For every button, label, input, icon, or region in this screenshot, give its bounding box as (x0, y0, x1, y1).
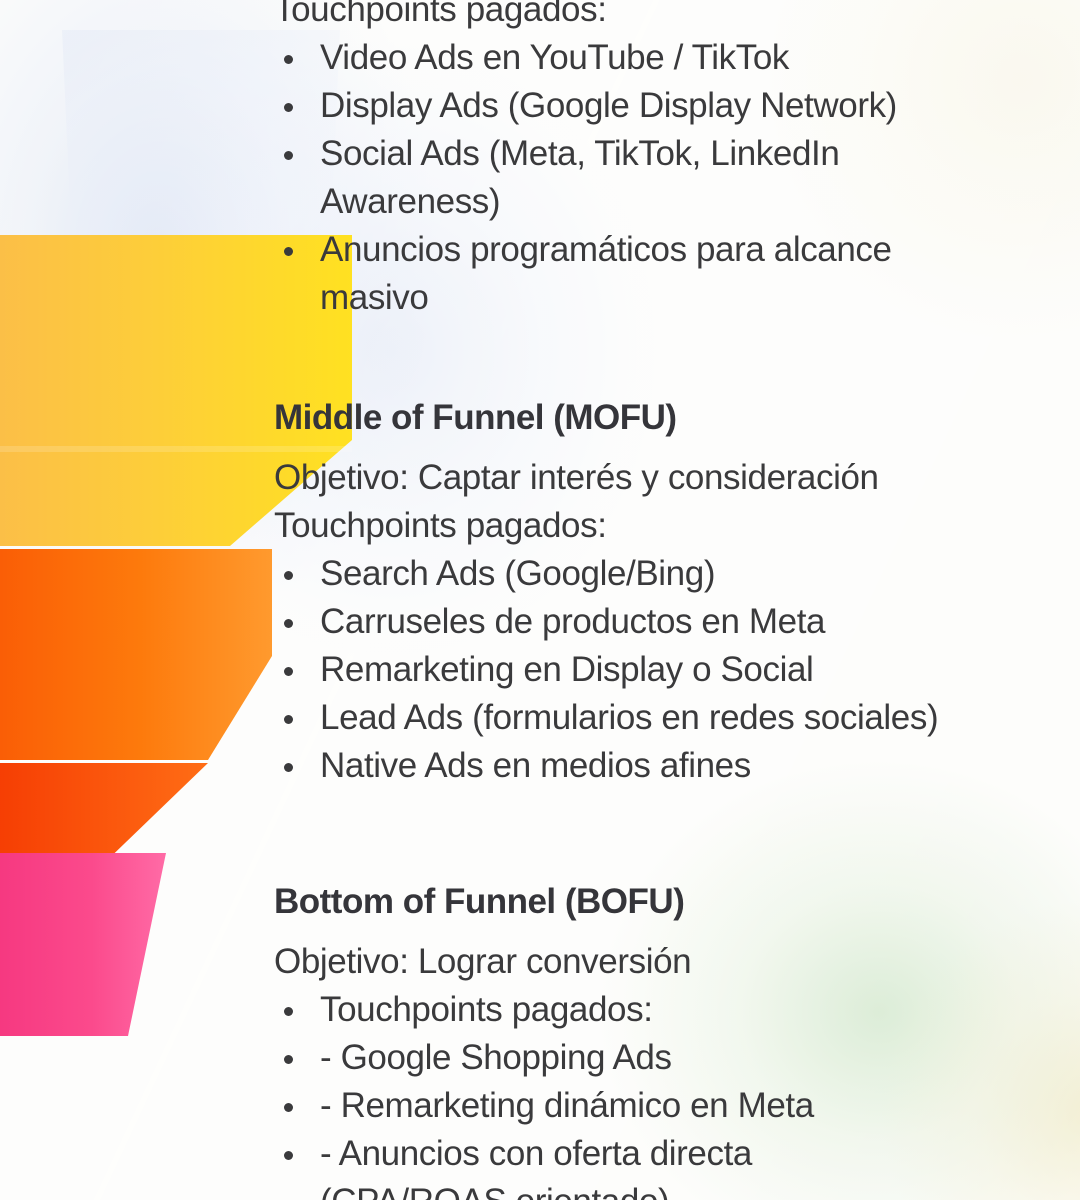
tofu-bullet-list: Video Ads en YouTube / TikTok Display Ad… (274, 34, 1014, 322)
bullet-dot-icon (284, 1055, 293, 1064)
spacer (274, 924, 1014, 938)
list-item: Touchpoints pagados: (274, 986, 1014, 1034)
section-mofu: Middle of Funnel (MOFU) Objetivo: Captar… (274, 396, 1014, 790)
mofu-bullet-1: Search Ads (Google/Bing) (320, 554, 715, 593)
tofu-bullet-4: Anuncios programáticos para alcance masi… (320, 226, 960, 322)
bullet-dot-icon (284, 247, 293, 256)
bullet-dot-icon (284, 1007, 293, 1016)
bullet-dot-icon (284, 103, 293, 112)
bullet-dot-icon (284, 55, 293, 64)
list-item: Carruseles de productos en Meta (274, 598, 1014, 646)
list-item: Lead Ads (formularios en redes sociales) (274, 694, 1014, 742)
bofu-bullet-2: - Google Shopping Ads (320, 1038, 672, 1077)
spacer (274, 440, 1014, 454)
mofu-bullet-5: Native Ads en medios afines (320, 746, 751, 785)
mofu-bullet-3: Remarketing en Display o Social (320, 650, 813, 689)
bofu-bullet-1: Touchpoints pagados: (320, 990, 653, 1029)
bofu-bullet-3: - Remarketing dinámico en Meta (320, 1086, 814, 1125)
mofu-bullet-4: Lead Ads (formularios en redes sociales) (320, 698, 938, 737)
bullet-dot-icon (284, 151, 293, 160)
list-item: - Google Shopping Ads (274, 1034, 1014, 1082)
bullet-dot-icon (284, 667, 293, 676)
bullet-dot-icon (284, 1151, 293, 1160)
tofu-bullet-2: Display Ads (Google Display Network) (320, 86, 897, 125)
bofu-heading: Bottom of Funnel (BOFU) (274, 880, 1014, 924)
bullet-dot-icon (284, 763, 293, 772)
mofu-heading: Middle of Funnel (MOFU) (274, 396, 1014, 440)
section-bofu: Bottom of Funnel (BOFU) Objetivo: Lograr… (274, 880, 1014, 1200)
list-item: Search Ads (Google/Bing) (274, 550, 1014, 598)
list-item: Remarketing en Display o Social (274, 646, 1014, 694)
mofu-bullet-2: Carruseles de productos en Meta (320, 602, 825, 641)
bullet-dot-icon (284, 571, 293, 580)
bullet-dot-icon (284, 619, 293, 628)
mofu-bullet-list: Search Ads (Google/Bing) Carruseles de p… (274, 550, 1014, 790)
slide-canvas: Touchpoints pagados: Video Ads en YouTub… (0, 0, 1080, 1200)
list-item: Display Ads (Google Display Network) (274, 82, 1014, 130)
bofu-bullet-4: - Anuncios con oferta directa (CPA/ROAS … (320, 1130, 840, 1200)
list-item: Video Ads en YouTube / TikTok (274, 34, 1014, 82)
slide-content: Touchpoints pagados: Video Ads en YouTub… (0, 0, 1080, 1200)
bofu-objective: Objetivo: Lograr conversión (274, 938, 1014, 986)
list-item: Native Ads en medios afines (274, 742, 1014, 790)
list-item: Anuncios programáticos para alcance masi… (274, 226, 1014, 322)
list-item: Social Ads (Meta, TikTok, LinkedIn Aware… (274, 130, 1014, 226)
tofu-bullet-1: Video Ads en YouTube / TikTok (320, 38, 789, 77)
list-item: - Anuncios con oferta directa (CPA/ROAS … (274, 1130, 1014, 1200)
tofu-bullet-3: Social Ads (Meta, TikTok, LinkedIn Aware… (320, 130, 925, 226)
bullet-dot-icon (284, 715, 293, 724)
list-item: - Remarketing dinámico en Meta (274, 1082, 1014, 1130)
tofu-touchpoints-label: Touchpoints pagados: (274, 0, 1014, 34)
bofu-bullet-list: Touchpoints pagados: - Google Shopping A… (274, 986, 1014, 1200)
bullet-dot-icon (284, 1103, 293, 1112)
section-tofu: Touchpoints pagados: Video Ads en YouTub… (274, 0, 1014, 322)
mofu-objective: Objetivo: Captar interés y consideración (274, 454, 1014, 502)
mofu-touchpoints-label: Touchpoints pagados: (274, 502, 1014, 550)
